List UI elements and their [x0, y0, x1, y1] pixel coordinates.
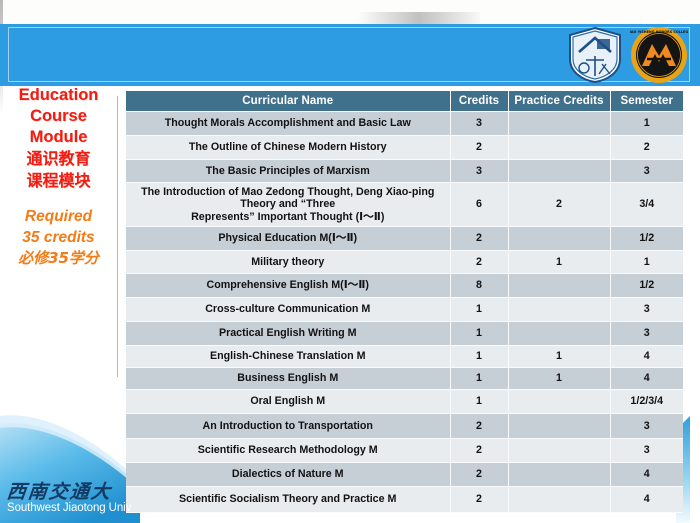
table-row[interactable]: Business English M114 — [126, 368, 683, 390]
cell-credits: 2 — [450, 251, 508, 274]
cell-semester: 4 — [610, 487, 683, 513]
cell-semester: 3 — [610, 322, 683, 346]
cell-credits: 2 — [450, 136, 508, 160]
cell-semester: 3/4 — [610, 183, 683, 227]
table-row[interactable]: Oral English M11/2/3/4 — [126, 390, 683, 414]
cell-practice-credits: 1 — [508, 251, 610, 274]
university-logo-english: Southwest Jiaotong Univ — [7, 502, 137, 514]
cell-curricular-name: Comprehensive English M(Ⅰ～Ⅱ) — [126, 274, 450, 298]
cell-credits: 2 — [450, 463, 508, 487]
cell-practice-credits — [508, 487, 610, 513]
table-row[interactable]: The Outline of Chinese Modern History22 — [126, 136, 683, 160]
cell-semester: 1/2/3/4 — [610, 390, 683, 414]
cell-practice-credits — [508, 274, 610, 298]
cell-semester: 4 — [610, 346, 683, 368]
table-row[interactable]: Comprehensive English M(Ⅰ～Ⅱ)81/2 — [126, 274, 683, 298]
university-logo-chinese: 西南交通大 — [6, 477, 135, 504]
cell-practice-credits — [508, 390, 610, 414]
cell-curricular-name: The Introduction of Mao Zedong Thought, … — [126, 183, 450, 227]
mao-yisheng-honors-college-seal: MAO YISHENG HONORS COLLEGE — [630, 26, 688, 84]
cell-curricular-name: Scientific Socialism Theory and Practice… — [126, 487, 450, 513]
cell-curricular-name: Physical Education M(Ⅰ～Ⅱ) — [126, 227, 450, 251]
cell-curricular-name: An Introduction to Transportation — [126, 414, 450, 439]
cell-practice-credits: 2 — [508, 183, 610, 227]
cell-credits: 8 — [450, 274, 508, 298]
table-row[interactable]: Scientific Socialism Theory and Practice… — [126, 487, 683, 513]
cell-credits: 1 — [450, 322, 508, 346]
table-row[interactable]: English-Chinese Translation M114 — [126, 346, 683, 368]
cell-curricular-name: Business English M — [126, 368, 450, 390]
table-row[interactable]: Physical Education M(Ⅰ～Ⅱ)21/2 — [126, 227, 683, 251]
swjtu-shield-logo — [566, 26, 624, 84]
cell-semester: 1 — [610, 251, 683, 274]
cell-practice-credits — [508, 463, 610, 487]
cell-semester: 4 — [610, 368, 683, 390]
cell-semester: 3 — [610, 439, 683, 463]
cell-credits: 3 — [450, 112, 508, 136]
cell-curricular-name: Practical English Writing M — [126, 322, 450, 346]
cell-practice-credits — [508, 112, 610, 136]
cell-semester: 3 — [610, 298, 683, 322]
cell-curricular-name: Thought Morals Accomplishment and Basic … — [126, 112, 450, 136]
cell-curricular-name: The Outline of Chinese Modern History — [126, 136, 450, 160]
cell-semester: 4 — [610, 463, 683, 487]
cell-curricular-name: Cross-culture Communication M — [126, 298, 450, 322]
cell-practice-credits: 1 — [508, 346, 610, 368]
cell-practice-credits — [508, 322, 610, 346]
cell-practice-credits — [508, 227, 610, 251]
column-header-curricular-name[interactable]: Curricular Name — [126, 91, 450, 112]
table-row[interactable]: Cross-culture Communication M13 — [126, 298, 683, 322]
cell-practice-credits: 1 — [508, 368, 610, 390]
cell-credits: 2 — [450, 414, 508, 439]
cell-practice-credits — [508, 414, 610, 439]
top-gray-sliver-decoration — [358, 12, 480, 24]
svg-text:MAO YISHENG HONORS COLLEGE: MAO YISHENG HONORS COLLEGE — [630, 30, 688, 34]
cell-practice-credits — [508, 136, 610, 160]
cell-credits: 1 — [450, 368, 508, 390]
cell-semester: 3 — [610, 414, 683, 439]
cell-credits: 1 — [450, 298, 508, 322]
table-header-row: Curricular Name Credits Practice Credits… — [126, 91, 683, 112]
cell-practice-credits — [508, 298, 610, 322]
column-header-practice-credits[interactable]: Practice Credits — [508, 91, 610, 112]
cell-semester: 2 — [610, 136, 683, 160]
cell-practice-credits — [508, 439, 610, 463]
cell-credits: 2 — [450, 487, 508, 513]
table-row[interactable]: The Introduction of Mao Zedong Thought, … — [126, 183, 683, 227]
table-row[interactable]: Dialectics of Nature M24 — [126, 463, 683, 487]
cell-semester: 1/2 — [610, 227, 683, 251]
cell-credits: 3 — [450, 160, 508, 183]
curriculum-table: Curricular Name Credits Practice Credits… — [126, 91, 683, 513]
header-underline — [0, 84, 700, 86]
table-row[interactable]: The Basic Principles of Marxism33 — [126, 160, 683, 183]
table-row[interactable]: Military theory211 — [126, 251, 683, 274]
cell-credits: 2 — [450, 439, 508, 463]
table-row[interactable]: An Introduction to Transportation23 — [126, 414, 683, 439]
sidebar-divider — [117, 96, 118, 377]
cell-credits: 1 — [450, 390, 508, 414]
table-row[interactable]: Scientific Research Methodology M23 — [126, 439, 683, 463]
table-row[interactable]: Thought Morals Accomplishment and Basic … — [126, 112, 683, 136]
curriculum-table-body: Thought Morals Accomplishment and Basic … — [126, 112, 683, 513]
cell-curricular-name: The Basic Principles of Marxism — [126, 160, 450, 183]
cell-semester: 1/2 — [610, 274, 683, 298]
cell-credits: 6 — [450, 183, 508, 227]
cell-curricular-name: English-Chinese Translation M — [126, 346, 450, 368]
column-header-credits[interactable]: Credits — [450, 91, 508, 112]
curriculum-table-container: Curricular Name Credits Practice Credits… — [126, 91, 683, 513]
column-header-semester[interactable]: Semester — [610, 91, 683, 112]
cell-credits: 2 — [450, 227, 508, 251]
cell-curricular-name: Dialectics of Nature M — [126, 463, 450, 487]
slide-canvas: Curriculum System in first two years前两年课… — [0, 0, 700, 523]
cell-curricular-name: Military theory — [126, 251, 450, 274]
cell-credits: 1 — [450, 346, 508, 368]
cell-curricular-name: Oral English M — [126, 390, 450, 414]
cell-semester: 3 — [610, 160, 683, 183]
cell-practice-credits — [508, 160, 610, 183]
top-white-strip — [0, 0, 700, 24]
table-row[interactable]: Practical English Writing M13 — [126, 322, 683, 346]
cell-semester: 1 — [610, 112, 683, 136]
cell-curricular-name: Scientific Research Methodology M — [126, 439, 450, 463]
